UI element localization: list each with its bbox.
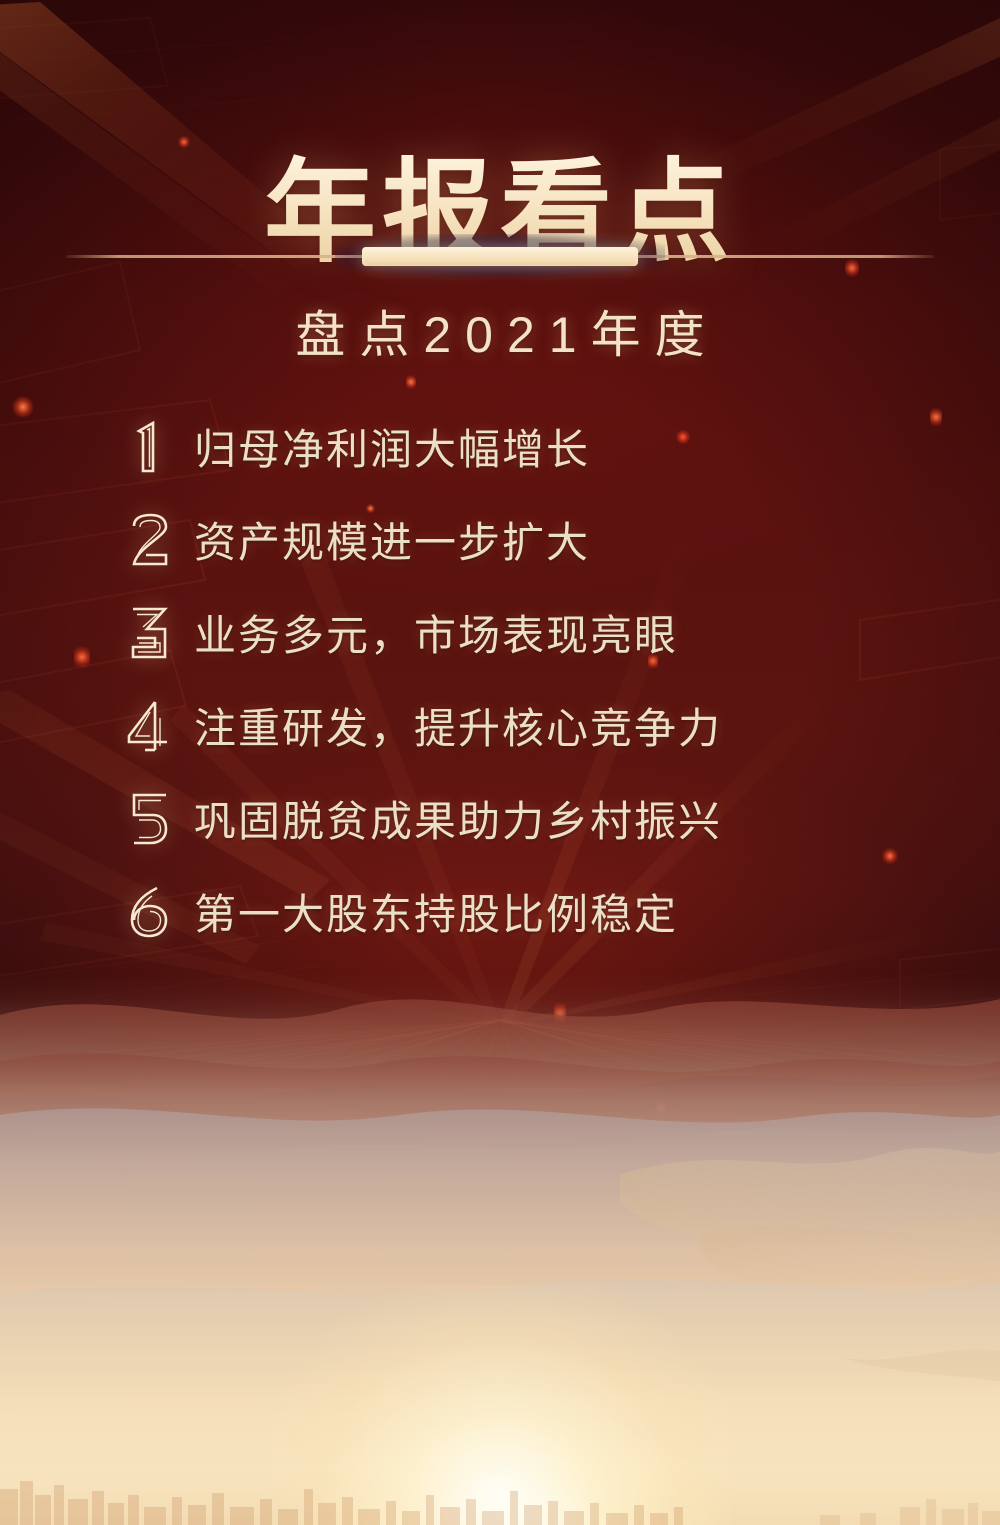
page-subtitle: 盘点2021年度 [0,295,1000,367]
divider-center-bar [362,247,638,266]
list-item-text: 业务多元，市场表现亮眼 [194,602,678,663]
list-item: 归母净利润大幅增长 [118,400,898,493]
highlights-list: 归母净利润大幅增长 资产规模进一步扩大 [118,400,898,958]
list-item: 注重研发，提升核心竞争力 [118,679,898,772]
number-2-icon [118,512,180,568]
list-item-text: 归母净利润大幅增长 [194,416,590,477]
annual-report-highlights-poster: 年报看点 盘点2021年度 归母净利润 [0,0,1000,1525]
list-item: 第一大股东持股比例稳定 [118,865,898,958]
title-divider [0,236,1000,276]
list-item: 资产规模进一步扩大 [118,493,898,586]
number-1-icon [118,419,180,475]
list-item-text: 注重研发，提升核心竞争力 [194,695,722,756]
number-6-icon [118,884,180,940]
list-item-text: 资产规模进一步扩大 [194,509,590,570]
list-item-text: 第一大股东持股比例稳定 [194,881,678,942]
list-item-text: 巩固脱贫成果助力乡村振兴 [194,788,722,849]
list-item: 业务多元，市场表现亮眼 [118,586,898,679]
number-4-icon [118,698,180,754]
number-5-icon [118,791,180,847]
number-3-icon [118,605,180,661]
list-item: 巩固脱贫成果助力乡村振兴 [118,772,898,865]
